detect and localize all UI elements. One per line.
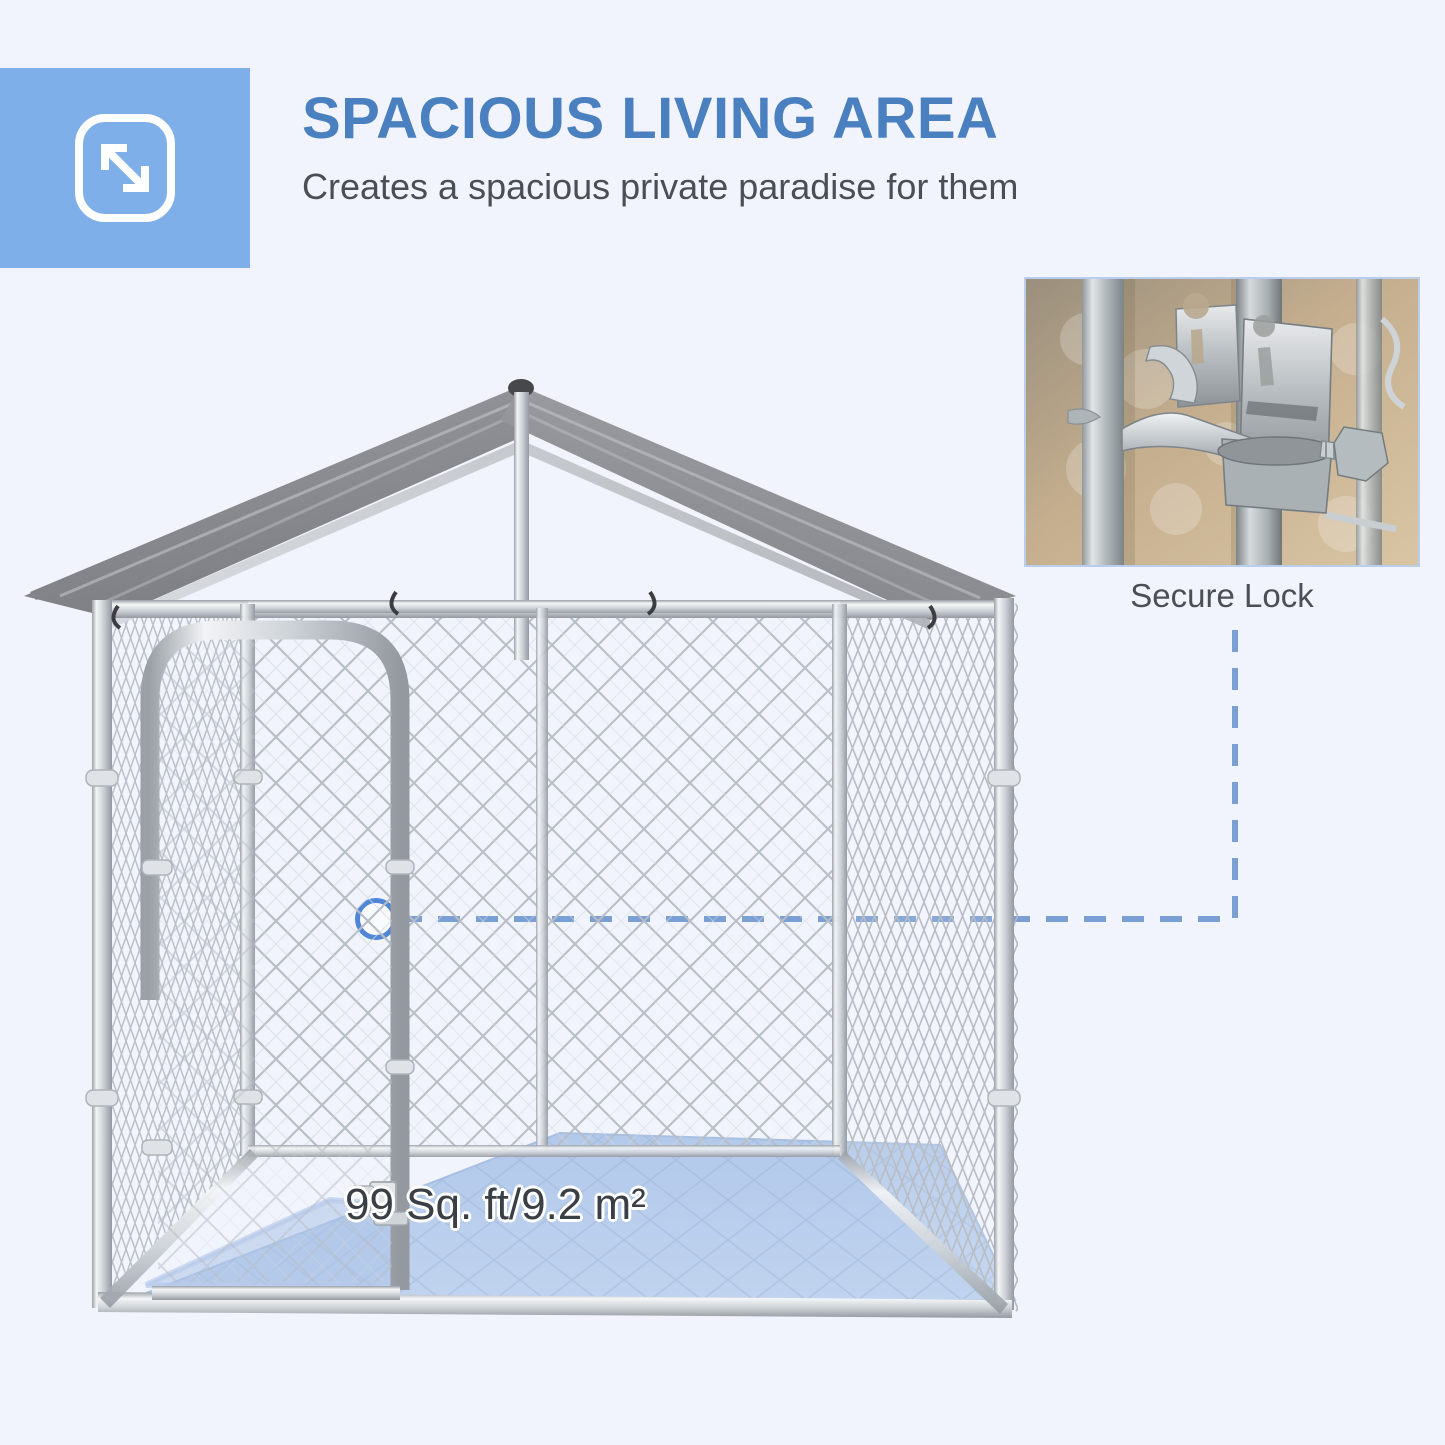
page-subtitle: Creates a spacious private paradise for … <box>302 165 1402 208</box>
area-label: 99 Sq. ft/9.2 m² <box>345 1180 646 1230</box>
infographic-page: SPACIOUS LIVING AREA Creates a spacious … <box>0 0 1445 1445</box>
header-text-block: SPACIOUS LIVING AREA Creates a spacious … <box>302 88 1402 208</box>
feature-icon-badge <box>0 68 250 268</box>
dog-kennel-illustration <box>0 300 1445 1400</box>
resize-diagonal-arrow-icon <box>65 108 185 228</box>
page-title: SPACIOUS LIVING AREA <box>302 88 1402 151</box>
